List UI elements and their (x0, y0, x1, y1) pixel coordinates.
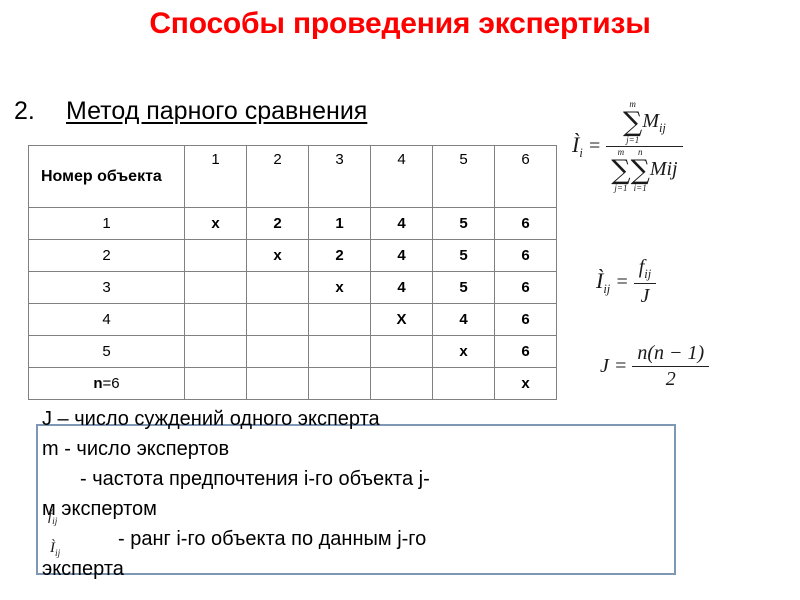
table-row: 4 X 4 6 (29, 304, 557, 336)
cell (247, 272, 309, 304)
legend-line-text: - частота предпочтения i-го объекта j- (80, 468, 430, 490)
formula-fraction: m ∑ j=1 Mij m ∑ j=1 n ∑ i=1 Mij (606, 100, 682, 193)
table-col-header-6: 6 (495, 146, 557, 208)
table-row: n=6 x (29, 368, 557, 400)
formula-lhs-base: J (600, 355, 609, 378)
cell: 6 (495, 240, 557, 272)
formula-relation: = (614, 355, 628, 378)
table-col-header-3: 3 (309, 146, 371, 208)
cell: x (185, 208, 247, 240)
legend-line: m - число экспертов (42, 434, 702, 464)
cell (185, 336, 247, 368)
sigma-glyph: ∑ (623, 109, 642, 136)
cell: 4 (433, 304, 495, 336)
table-col-header-2: 2 (247, 146, 309, 208)
cell: x (247, 240, 309, 272)
table-corner-header: Номер объекта (29, 146, 185, 208)
sigma-icon: m ∑ j=1 (623, 100, 642, 145)
table-col-header-4: 4 (371, 146, 433, 208)
row-label: 1 (29, 208, 185, 240)
cell (247, 336, 309, 368)
formula-lhs-sub: ij (603, 282, 610, 296)
legend-line: эксперта (42, 554, 702, 584)
formula-relation: = (615, 271, 629, 294)
cell: 6 (495, 208, 557, 240)
formula-numerator: n(n − 1) (632, 342, 709, 367)
row-label-n: n=6 (29, 368, 185, 400)
inline-symbol-I-ij: Ìij (50, 540, 60, 559)
formula-lhs: Ìi (572, 132, 583, 161)
cell (185, 368, 247, 400)
numerator-sub: ij (644, 267, 651, 281)
legend-line-text: - ранг i-го объекта по данным j-го (118, 528, 426, 550)
cell: 4 (371, 208, 433, 240)
formula-lhs: Ìij (596, 268, 610, 297)
heading-number: 2. (14, 96, 66, 126)
cell: 5 (433, 240, 495, 272)
formula-rank-average: Ìi = m ∑ j=1 Mij m ∑ j=1 n ∑ i=1 Mij (572, 100, 683, 193)
formula-fraction: fij J (634, 256, 656, 308)
cell (185, 240, 247, 272)
sigma-icon: m ∑ j=1 (611, 148, 630, 193)
row-label: 5 (29, 336, 185, 368)
cell (309, 336, 371, 368)
formula-denominator: J (634, 284, 656, 308)
cell (185, 304, 247, 336)
cell (309, 368, 371, 400)
table-header-row: Номер объекта 1 2 3 4 5 6 (29, 146, 557, 208)
row-label: 4 (29, 304, 185, 336)
formula-denominator: m ∑ j=1 n ∑ i=1 Mij (606, 147, 682, 193)
sigma-glyph: ∑ (611, 157, 630, 184)
formula-numerator: fij (634, 256, 656, 284)
legend-line: J – число суждений одного эксперта (42, 404, 702, 434)
heading-row: 2.Метод парного сравнения (14, 96, 367, 126)
cell: 6 (495, 272, 557, 304)
cell (247, 304, 309, 336)
cell (371, 368, 433, 400)
cell: x (495, 368, 557, 400)
heading-label: Метод парного сравнения (66, 97, 367, 125)
numerator-body-base: M (642, 110, 659, 132)
row-label: 3 (29, 272, 185, 304)
formula-rank-ij: Ìij = fij J (596, 256, 656, 308)
denominator-body: Mij (650, 158, 678, 180)
cell: 6 (495, 304, 557, 336)
table-row: 1 x 2 1 4 5 6 (29, 208, 557, 240)
legend-line: - ранг i-го объекта по данным j-го (42, 524, 702, 554)
cell: x (433, 336, 495, 368)
formula-relation: = (588, 135, 602, 158)
sigma-glyph: ∑ (631, 157, 650, 184)
cell (433, 368, 495, 400)
formula-judgements-count: J = n(n − 1) 2 (600, 342, 709, 391)
table-col-header-1: 1 (185, 146, 247, 208)
formula-lhs-sub: i (579, 146, 582, 160)
cell: 5 (433, 208, 495, 240)
pairwise-comparison-table: Номер объекта 1 2 3 4 5 6 1 x 2 1 4 5 6 … (28, 145, 557, 400)
cell: 4 (371, 272, 433, 304)
cell: 2 (309, 240, 371, 272)
symbol-sub: ij (52, 517, 57, 527)
legend-text-block: J – число суждений одного эксперта m - ч… (42, 404, 702, 584)
numerator-body-sub: ij (659, 121, 666, 135)
table-row: 2 x 2 4 5 6 (29, 240, 557, 272)
cell: 1 (309, 208, 371, 240)
formula-fraction: n(n − 1) 2 (632, 342, 709, 391)
row-label: 2 (29, 240, 185, 272)
sigma-icon: n ∑ i=1 (631, 148, 650, 193)
cell: 2 (247, 208, 309, 240)
table-row: 5 x 6 (29, 336, 557, 368)
formula-denominator: 2 (632, 367, 709, 391)
cell (309, 304, 371, 336)
table-col-header-5: 5 (433, 146, 495, 208)
cell: 5 (433, 272, 495, 304)
cell: 4 (371, 240, 433, 272)
formula-numerator: m ∑ j=1 Mij (606, 100, 682, 147)
legend-line: м экспертом (42, 494, 702, 524)
inline-symbol-f-ij: fij (48, 508, 57, 527)
legend-line: - частота предпочтения i-го объекта j- (42, 464, 702, 494)
cell: x (309, 272, 371, 304)
cell: X (371, 304, 433, 336)
symbol-sub: ij (55, 549, 60, 559)
table-row: 3 x 4 5 6 (29, 272, 557, 304)
cell (185, 272, 247, 304)
cell (247, 368, 309, 400)
cell: 6 (495, 336, 557, 368)
cell (371, 336, 433, 368)
page-title: Способы проведения экспертизы (90, 4, 710, 44)
